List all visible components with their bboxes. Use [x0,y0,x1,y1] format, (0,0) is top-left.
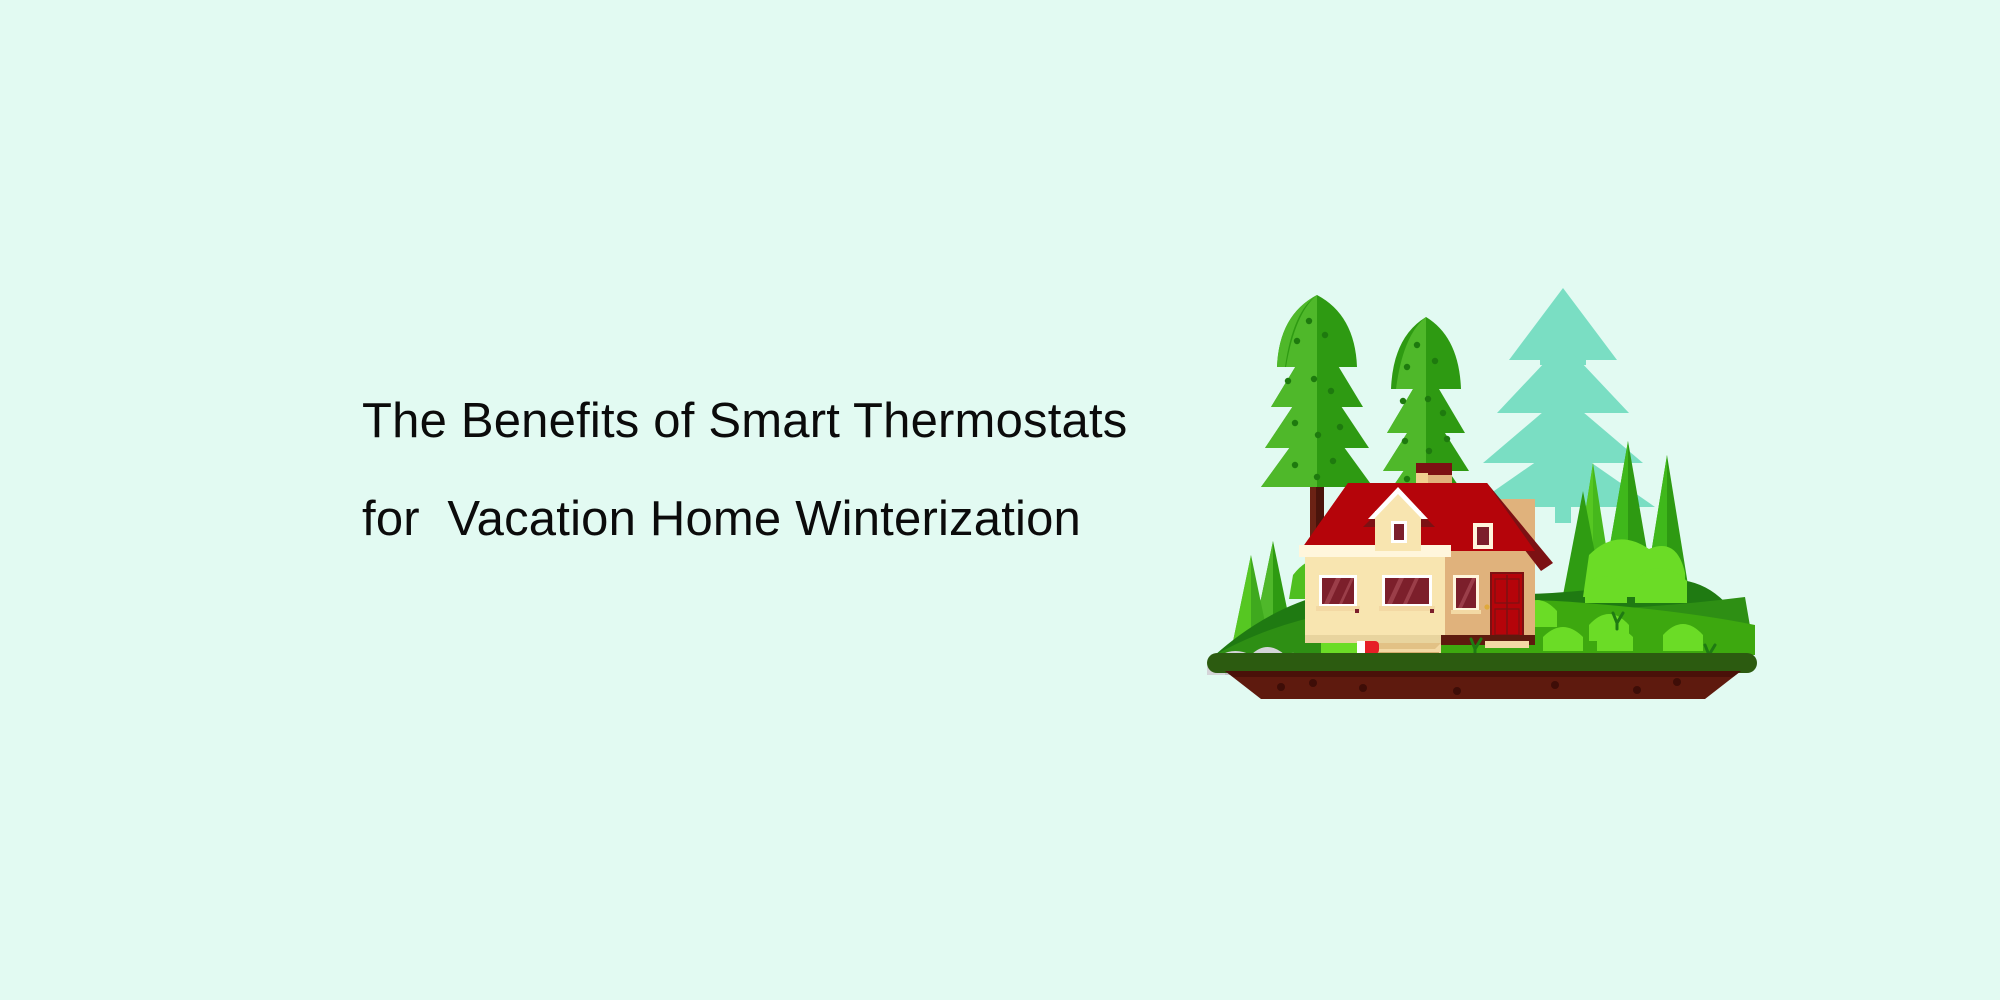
window-gable-icon [1473,523,1493,549]
window-side-icon [1451,575,1481,614]
article-hero-banner: The Benefits of Smart Thermostats for Va… [0,0,2000,1000]
window-left-icon [1316,575,1360,613]
island-base-icon [1207,653,1757,699]
window-right-icon [1379,575,1435,613]
front-door-icon[interactable] [1484,573,1523,641]
vacation-home-illustration [1185,255,1775,700]
vacation-home-illustration-svg [1185,255,1775,700]
mailbox-icon [1357,641,1379,654]
page-title: The Benefits of Smart Thermostats for Va… [362,372,1152,568]
